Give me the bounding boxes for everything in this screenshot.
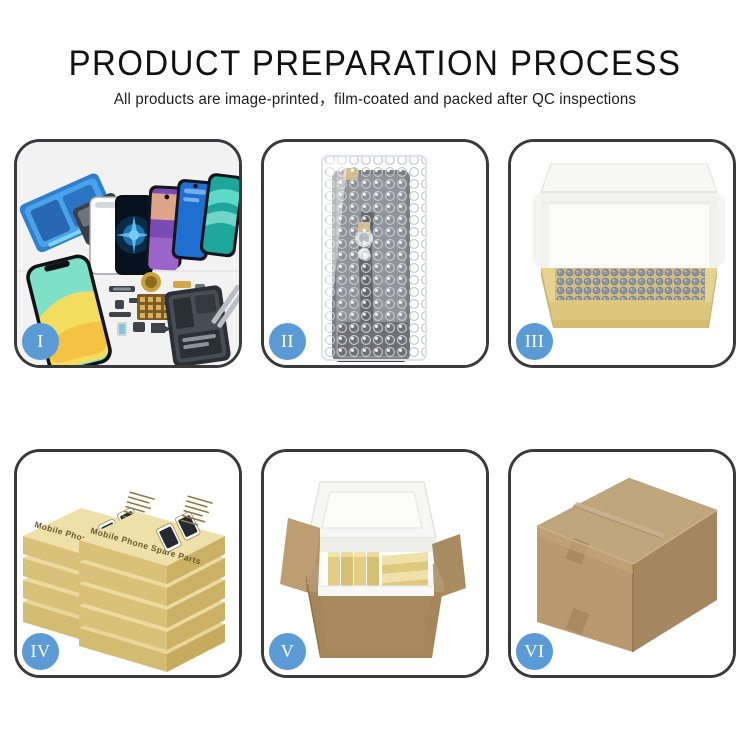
process-step-grid: I [0,0,750,750]
step-panel-3[interactable]: III [508,139,736,368]
step-badge-5: V [269,633,306,670]
step-badge-4: IV [22,633,59,670]
step-badge-3: III [516,323,553,360]
poster-root: PRODUCT PREPARATION PROCESS All products… [0,0,750,750]
step-panel-6[interactable]: VI [508,449,736,678]
step-badge-1: I [22,323,59,360]
step-panel-2[interactable]: II [261,139,489,368]
step-panel-5[interactable]: V [261,449,489,678]
step-panel-1[interactable]: I [14,139,242,368]
step-badge-6: VI [516,633,553,670]
step-badge-2: II [269,323,306,360]
step-panel-4[interactable]: Mobile Phone Spare Parts [14,449,242,678]
